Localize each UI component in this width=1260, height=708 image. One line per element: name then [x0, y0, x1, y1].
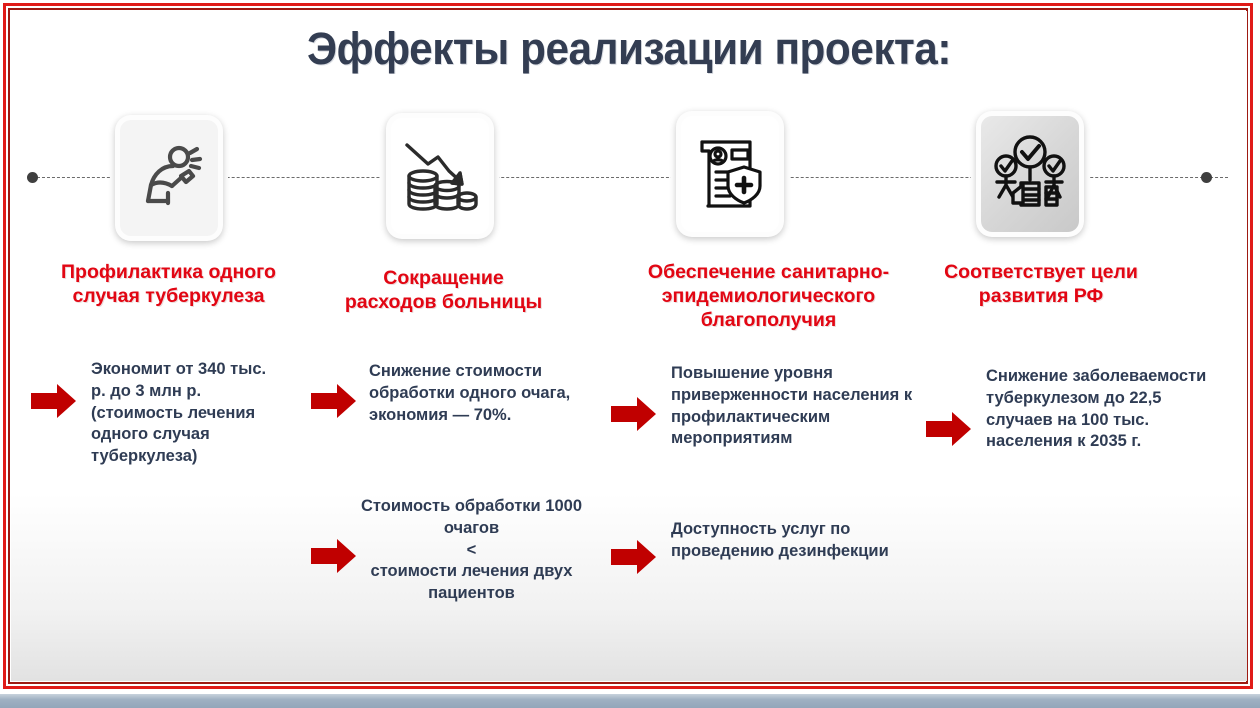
person-coughing-icon	[115, 115, 223, 241]
column-1-block-1-text: Экономит от 340 тыс. р. до 3 млн р. (сто…	[91, 359, 281, 468]
column-4-block-1-text: Снижение заболеваемости туберкулезом до …	[986, 366, 1221, 453]
effect-column-1: Профилактика одного случая туберкулеза Э…	[11, 11, 321, 681]
slide-canvas: Эффекты реализации проекта:	[11, 11, 1247, 681]
red-arrow-right-icon	[926, 411, 972, 447]
column-3-block-2-text: Доступность услуг по проведению дезинфек…	[671, 519, 896, 563]
red-arrow-right-icon	[31, 383, 77, 419]
column-4-heading: Соответствует цели развития РФ	[926, 261, 1156, 309]
column-3-block-2: Доступность услуг по проведению дезинфек…	[671, 519, 896, 563]
declining-coins-icon	[386, 113, 494, 239]
red-arrow-right-icon	[611, 539, 657, 575]
effect-column-2: Сокращение расходов больницы Снижение ст…	[311, 11, 611, 681]
column-3-heading: Обеспечение санитарно-эпидемиологическог…	[601, 261, 936, 332]
bottom-strip	[0, 694, 1260, 708]
column-2-block-2-text: Стоимость обработки 1000 очагов < стоимо…	[339, 496, 604, 605]
slide: Эффекты реализации проекта:	[0, 0, 1260, 708]
column-2-block-1: Снижение стоимости обработки одного очаг…	[369, 361, 609, 426]
column-2-block-2: Стоимость обработки 1000 очагов < стоимо…	[339, 496, 604, 605]
column-1-heading: Профилактика одного случая туберкулеза	[51, 261, 286, 309]
column-1-block-1: Экономит от 340 тыс. р. до 3 млн р. (сто…	[91, 359, 281, 468]
document-shield-icon	[676, 111, 784, 237]
column-3-block-1-text: Повышение уровня приверженности населени…	[671, 363, 921, 450]
effect-column-3: Обеспечение санитарно-эпидемиологическог…	[596, 11, 931, 681]
column-3-block-1: Повышение уровня приверженности населени…	[671, 363, 921, 450]
red-arrow-right-icon	[311, 383, 357, 419]
people-checkmarks-icon	[976, 111, 1084, 237]
column-2-heading: Сокращение расходов больницы	[336, 267, 551, 315]
effect-column-4: Соответствует цели развития РФ Снижение …	[926, 11, 1247, 681]
column-2-block-1-text: Снижение стоимости обработки одного очаг…	[369, 361, 609, 426]
red-arrow-right-icon	[611, 396, 657, 432]
column-4-block-1: Снижение заболеваемости туберкулезом до …	[986, 366, 1221, 453]
